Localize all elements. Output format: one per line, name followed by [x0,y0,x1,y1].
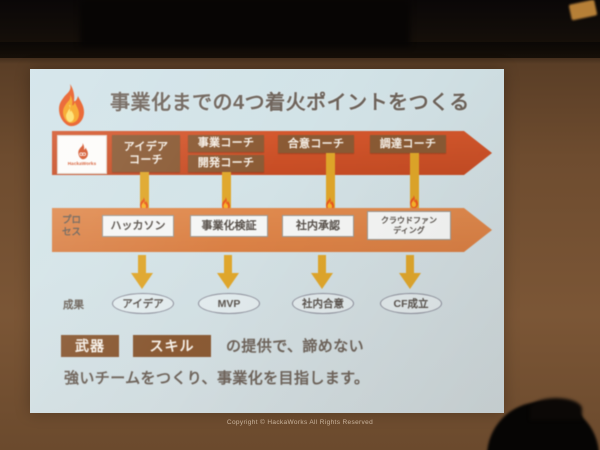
down-arrow-icon-2 [217,255,239,289]
coach-tag-agreement[interactable]: 合意コーチ [278,135,354,153]
message-chip-weapon: 武器 [61,335,119,357]
hackaworks-logo: HackaWorks [57,135,107,174]
flame-icon [53,83,87,127]
coach-tag-development[interactable]: 開発コーチ [188,155,264,172]
slide-title: 事業化までの4つ着火ポイントをつくる [110,86,470,115]
result-pill-idea[interactable]: アイデア [112,293,174,314]
result-pill-consensus[interactable]: 社内合意 [292,293,354,314]
result-row-label: 成果 [63,297,84,312]
projector-photo: 事業化までの4つ着火ポイントをつくる HackaWorks アイデア コーチ 事… [0,0,600,450]
message-chip-skill: スキル [133,335,211,357]
process-tag-validation[interactable]: 事業化検証 [190,215,268,237]
process-row-label-line1: プロ [62,215,96,227]
message-line2: 強いチームをつくり、事業化を目指します。 [64,367,369,388]
process-tag-hackathon[interactable]: ハッカソン [102,215,174,237]
ceiling-shadow [80,0,410,46]
slide-content: 事業化までの4つ着火ポイントをつくる HackaWorks アイデア コーチ 事… [30,69,504,413]
coach-tag-idea-line1: アイデア [124,141,169,153]
process-tag-crowdfunding-line1: クラウドファン [381,216,437,225]
coach-tag-idea[interactable]: アイデア コーチ [112,135,180,172]
process-tag-crowdfunding-line2: ディング [393,226,424,235]
logo-flame-icon [76,143,89,160]
coach-tag-funding[interactable]: 調達コーチ [370,135,446,153]
message-line1-tail: の提供で、諦めない [226,335,364,356]
coach-tag-business[interactable]: 事業コーチ [188,135,264,152]
process-tag-approval[interactable]: 社内承認 [282,215,354,237]
audience-hair-silhouette [530,398,582,420]
result-pill-mvp[interactable]: MVP [198,293,260,314]
logo-text: HackaWorks [68,161,97,166]
down-arrow-icon-1 [131,255,153,289]
process-tag-crowdfunding[interactable]: クラウドファン ディング [367,211,451,240]
coach-tag-idea-line2: コーチ [129,154,163,166]
down-arrow-icon-4 [399,255,421,289]
process-row-label: プロ セス [62,215,96,239]
ignition-flame-icon-4 [408,195,419,209]
projection-screen: 事業化までの4つ着火ポイントをつくる HackaWorks アイデア コーチ 事… [30,69,504,413]
result-pill-cf[interactable]: CF成立 [380,293,442,314]
down-arrow-icon-3 [311,255,333,289]
process-row-label-line2: セス [62,227,96,239]
